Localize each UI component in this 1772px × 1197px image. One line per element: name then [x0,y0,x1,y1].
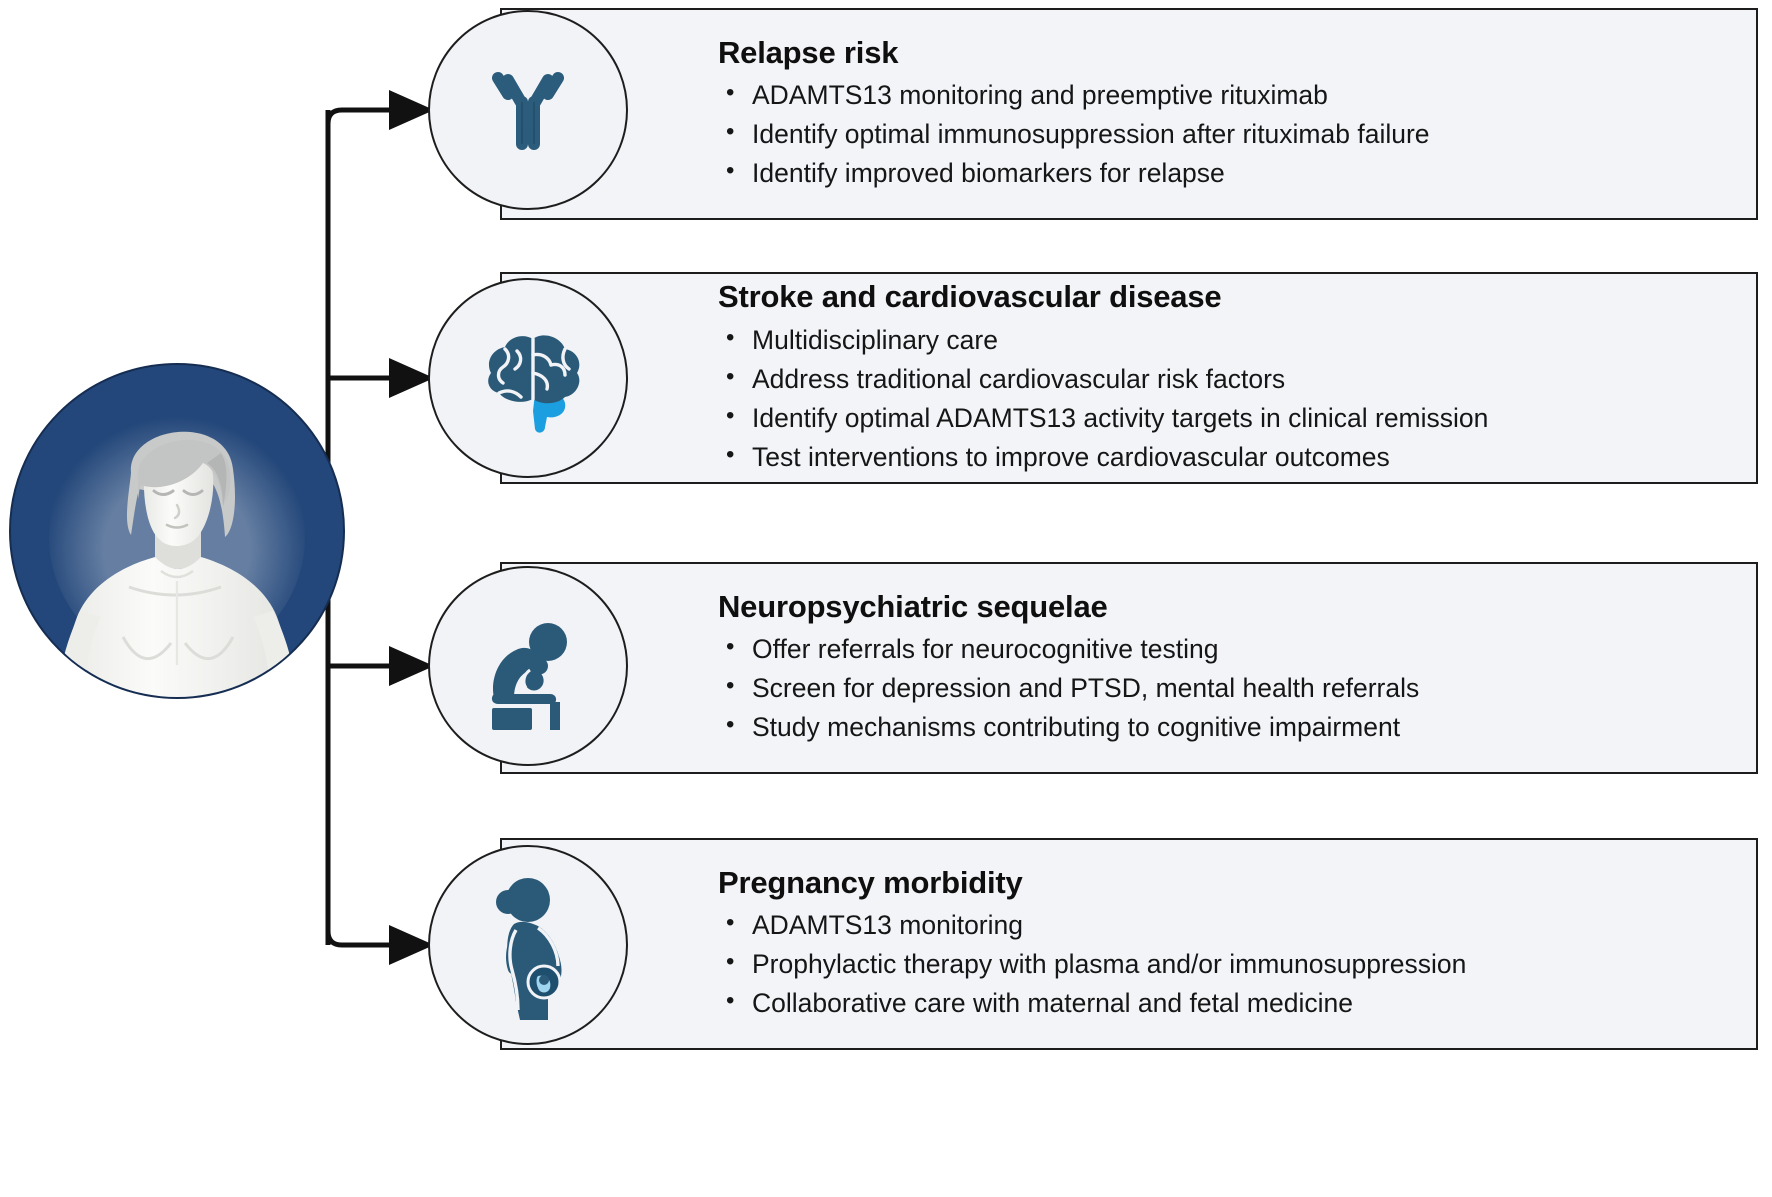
icon-circle-pregnancy-morbidity [428,845,628,1045]
panel-bullet-list: Offer referrals for neurocognitive testi… [718,630,1732,747]
list-item: Screen for depression and PTSD, mental h… [718,669,1732,708]
list-item: Multidisciplinary care [718,321,1732,360]
list-item: Test interventions to improve cardiovasc… [718,438,1732,477]
panel-title: Pregnancy morbidity [718,865,1732,901]
antibody-icon [468,50,588,170]
list-item: Prophylactic therapy with plasma and/or … [718,945,1732,984]
pregnant-woman-icon [464,870,592,1020]
panel-bullet-list: ADAMTS13 monitoring Prophylactic therapy… [718,906,1732,1023]
central-patient-node [9,363,345,699]
list-item: Identify optimal ADAMTS13 activity targe… [718,399,1732,438]
diagram-canvas: Relapse risk ADAMTS13 monitoring and pre… [0,0,1772,1197]
panel-neuropsychiatric-sequelae: Neuropsychiatric sequelae Offer referral… [500,562,1758,774]
panel-bullet-list: Multidisciplinary care Address tradition… [718,321,1732,477]
icon-circle-relapse-risk [428,10,628,210]
panel-title: Stroke and cardiovascular disease [718,279,1732,315]
icon-circle-neuropsychiatric-sequelae [428,566,628,766]
list-item: Address traditional cardiovascular risk … [718,360,1732,399]
brain-icon [465,315,591,441]
list-item: Collaborative care with maternal and fet… [718,984,1732,1023]
female-patient-torso-icon [11,365,343,697]
distressed-person-icon [464,602,592,730]
list-item: ADAMTS13 monitoring and preemptive ritux… [718,76,1732,115]
panel-stroke-and-cardiovascular-disease: Stroke and cardiovascular disease Multid… [500,272,1758,484]
list-item: Offer referrals for neurocognitive testi… [718,630,1732,669]
panel-bullet-list: ADAMTS13 monitoring and preemptive ritux… [718,76,1732,193]
panel-pregnancy-morbidity: Pregnancy morbidity ADAMTS13 monitoring … [500,838,1758,1050]
list-item: ADAMTS13 monitoring [718,906,1732,945]
list-item: Identify optimal immunosuppression after… [718,115,1732,154]
panel-title: Relapse risk [718,35,1732,71]
list-item: Identify improved biomarkers for relapse [718,154,1732,193]
panel-relapse-risk: Relapse risk ADAMTS13 monitoring and pre… [500,8,1758,220]
panel-title: Neuropsychiatric sequelae [718,589,1732,625]
list-item: Study mechanisms contributing to cogniti… [718,708,1732,747]
icon-circle-stroke-and-cardiovascular-disease [428,278,628,478]
